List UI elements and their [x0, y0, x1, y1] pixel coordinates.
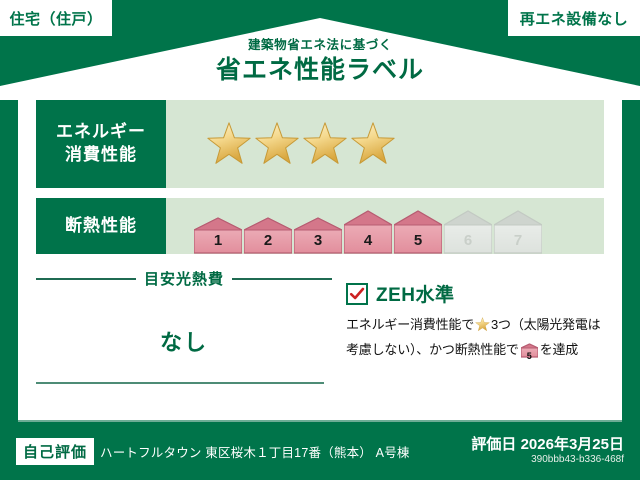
utility-cost-title: 目安光熱費 — [144, 268, 224, 289]
title-subtitle: 建築物省エネ法に基づく — [0, 38, 640, 53]
evaluation-id: 390bbb43-b336-468f — [531, 454, 624, 465]
zeh-desc-part2: 3つ（太陽光発電 — [491, 317, 588, 332]
check-icon — [346, 283, 368, 305]
cost-bottom-divider — [36, 382, 324, 384]
house-icon: 5 — [521, 343, 538, 365]
label-panel: エネルギー 消費性能 断熱性能 1234567 目安光熱費 — [18, 86, 622, 420]
insulation-level-label: 6 — [444, 232, 492, 249]
insulation-level-7: 7 — [494, 210, 542, 254]
star-icon — [302, 121, 348, 167]
star-icon — [350, 121, 396, 167]
cost-rule-right — [232, 278, 332, 280]
insulation-performance-value: 1234567 — [166, 198, 604, 254]
energy-label-root: 住宅（住戸） 再エネ設備なし 建築物省エネ法に基づく 省エネ性能ラベル エネルギ… — [0, 0, 640, 480]
utility-cost-section: 目安光熱費 なし — [36, 266, 332, 406]
energy-key-line2: 消費性能 — [65, 144, 137, 167]
insulation-level-label: 3 — [294, 232, 342, 249]
insulation-level-label: 1 — [194, 232, 242, 249]
page-title: 省エネ性能ラベル — [0, 56, 640, 85]
cost-rule-left — [36, 278, 136, 280]
star-rating — [166, 121, 396, 167]
energy-key-line1: エネルギー — [56, 121, 146, 144]
badge-building-type: 住宅（住戸） — [0, 0, 112, 36]
house-icon-label: 5 — [521, 349, 538, 364]
badge-renewable-energy: 再エネ設備なし — [508, 0, 640, 36]
insulation-performance-key: 断熱性能 — [36, 198, 166, 254]
zeh-desc-part4: を達成 — [540, 342, 578, 357]
property-address: ハートフルタウン 東区桜木１丁目17番（熊本） A号棟 — [100, 442, 410, 461]
insulation-performance-row: 断熱性能 1234567 — [36, 198, 604, 254]
zeh-header: ZEH水準 — [346, 280, 604, 307]
insulation-level-5: 5 — [394, 210, 442, 254]
star-icon — [206, 121, 252, 167]
evaluation-date: 評価日 2026年3月25日 — [471, 433, 624, 454]
badge-renewable-energy-label: 再エネ設備なし — [520, 8, 629, 29]
zeh-title: ZEH水準 — [376, 280, 455, 307]
insulation-level-label: 4 — [344, 232, 392, 249]
zeh-description: エネルギー消費性能で3つ（太陽光発電は考慮しない）、かつ断熱性能で5を達成 — [346, 314, 604, 365]
zeh-section: ZEH水準 エネルギー消費性能で3つ（太陽光発電は考慮しない）、かつ断熱性能で5… — [332, 266, 604, 406]
energy-performance-row: エネルギー 消費性能 — [36, 100, 604, 188]
star-icon — [475, 320, 490, 335]
star-icon — [254, 121, 300, 167]
lower-section: 目安光熱費 なし ZEH水準 エネルギー消費性能で3つ（太陽光発電は考慮しな — [36, 266, 604, 406]
insulation-level-1: 1 — [194, 217, 242, 254]
zeh-desc-part1: エネルギー消費性能で — [346, 317, 474, 332]
insulation-level-label: 7 — [494, 232, 542, 249]
footer: 自己評価 ハートフルタウン 東区桜木１丁目17番（熊本） A号棟 評価日 202… — [0, 420, 640, 480]
energy-performance-value — [166, 100, 604, 188]
insulation-level-label: 5 — [394, 232, 442, 249]
utility-cost-header: 目安光熱費 — [36, 268, 332, 289]
badge-building-type-label: 住宅（住戸） — [9, 8, 102, 29]
insulation-level-scale: 1234567 — [166, 198, 542, 254]
self-evaluation-badge: 自己評価 — [16, 438, 94, 465]
insulation-level-2: 2 — [244, 217, 292, 254]
footer-divider — [18, 420, 622, 422]
insulation-level-label: 2 — [244, 232, 292, 249]
insulation-level-4: 4 — [344, 210, 392, 254]
utility-cost-value: なし — [36, 325, 332, 357]
energy-performance-key: エネルギー 消費性能 — [36, 100, 166, 188]
insulation-level-3: 3 — [294, 217, 342, 254]
insulation-key-line1: 断熱性能 — [65, 215, 137, 238]
insulation-level-6: 6 — [444, 210, 492, 254]
title-block: 建築物省エネ法に基づく 省エネ性能ラベル — [0, 38, 640, 85]
